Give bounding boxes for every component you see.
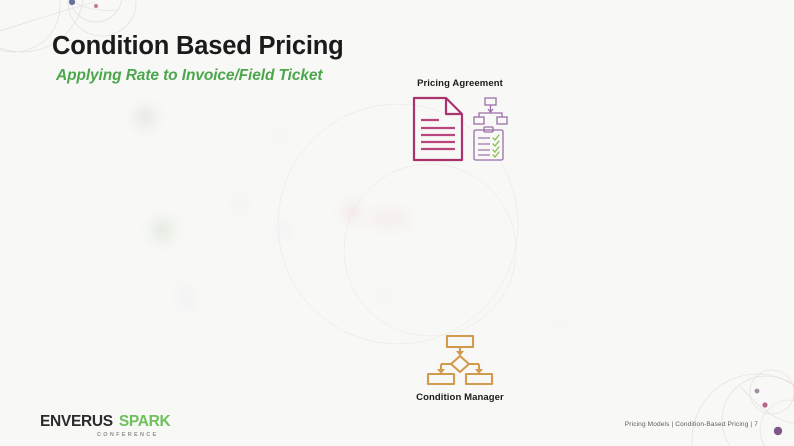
- clipboard-checkmarks: [493, 135, 499, 157]
- deco-blob: [556, 320, 562, 326]
- hierarchy-icon: [474, 98, 507, 124]
- deco-blob: [278, 226, 288, 236]
- deco-dot: [762, 402, 767, 407]
- deco-dot: [755, 389, 760, 394]
- logo-product-text: SPARK: [119, 414, 171, 430]
- node-pricing-agreement-label: Pricing Agreement: [417, 78, 503, 89]
- footer-caption-text: Pricing Models | Condition-Based Pricing…: [625, 421, 752, 428]
- pricing-agreement-icon-group: [410, 95, 510, 163]
- deco-blob: [276, 130, 284, 146]
- deco-blob: [152, 220, 173, 241]
- deco-blob: [236, 196, 244, 214]
- deco-blob: [370, 212, 410, 226]
- document-text-lines: [421, 120, 455, 149]
- footer-page-number: 7: [754, 421, 758, 428]
- enverus-spark-logo: ENVERUS SPARK CONFERENCE: [40, 414, 170, 438]
- node-condition-manager-label: Condition Manager: [416, 392, 504, 403]
- node-pricing-agreement[interactable]: Pricing Agreement: [397, 78, 523, 163]
- logo-wordmark-row: ENVERUS SPARK: [40, 414, 170, 430]
- node-condition-manager[interactable]: Condition Manager: [397, 334, 523, 403]
- flowchart-icon: [425, 334, 495, 386]
- deco-blob: [380, 290, 387, 297]
- deco-blob: [345, 205, 359, 219]
- slide-canvas: Condition Based Pricing Applying Rate to…: [0, 0, 794, 446]
- footer-caption: Pricing Models | Condition-Based Pricing…: [625, 421, 758, 428]
- deco-dot: [774, 427, 782, 435]
- deco-dot: [94, 4, 98, 8]
- title-block: Condition Based Pricing Applying Rate to…: [52, 32, 344, 85]
- deco-blob: [180, 285, 192, 311]
- logo-brand-text: ENVERUS: [40, 414, 113, 430]
- logo-tagline-text: CONFERENCE: [97, 433, 170, 439]
- clipboard-lines: [478, 138, 490, 155]
- page-subtitle: Applying Rate to Invoice/Field Ticket: [56, 67, 344, 85]
- deco-blob: [136, 108, 155, 127]
- page-title: Condition Based Pricing: [52, 32, 344, 60]
- deco-dot: [69, 0, 75, 5]
